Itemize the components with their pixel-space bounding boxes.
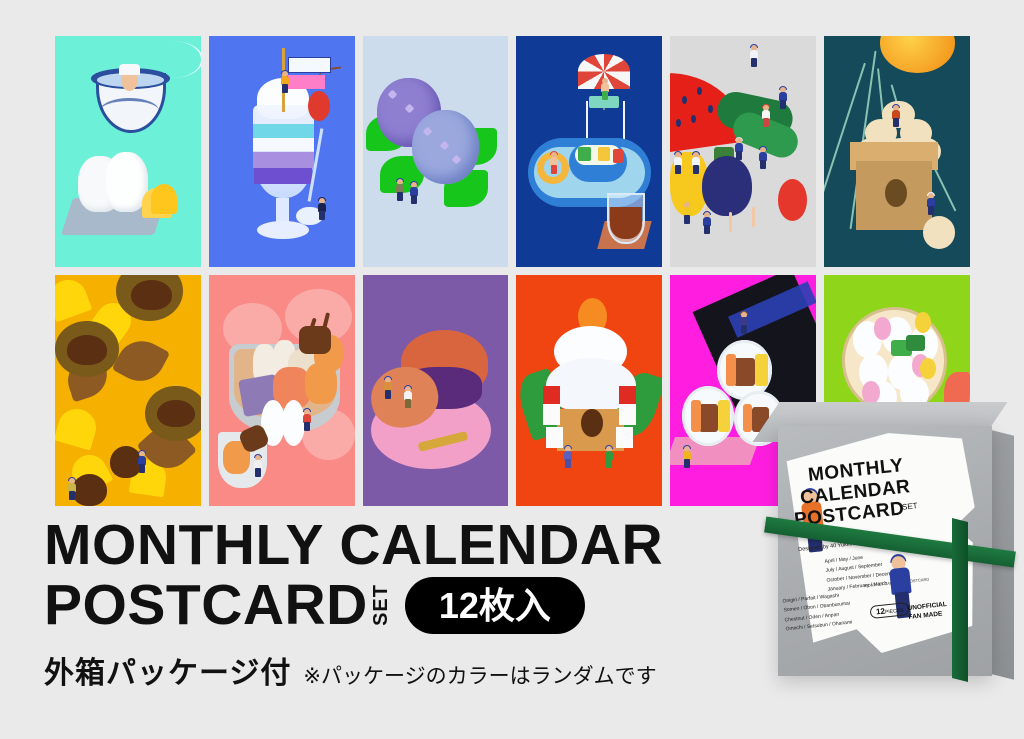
chestnut [131, 280, 172, 310]
chestnut [67, 335, 108, 365]
package-included-label: 外箱パッケージ付 [44, 648, 291, 692]
roll-filling [726, 354, 736, 386]
title-row-secondary: POSTCARD SET 12枚入 [44, 576, 744, 634]
table-leg [729, 212, 732, 232]
flag-banner-2 [288, 75, 326, 89]
figure-top [749, 45, 759, 67]
seed [691, 115, 696, 123]
stand-hole [581, 409, 603, 437]
table-leg [752, 207, 755, 227]
figure-corn-left [673, 152, 683, 174]
figure-floating [549, 152, 559, 174]
rolling-chestnut [72, 474, 107, 506]
figure-beside-stand [926, 193, 936, 215]
red-stripe [619, 386, 637, 404]
seed [682, 96, 687, 104]
figure-in-bowl [253, 455, 263, 477]
figure-on-roll [739, 312, 749, 334]
figure-sitting-eggplant [734, 138, 744, 160]
cherry [308, 91, 330, 121]
postcard-card-4-somen[interactable] [516, 36, 662, 267]
label-items-list: Onigiri / Parfait / Wagashi Somen / Obon… [782, 591, 852, 635]
figure-in-pot [302, 409, 312, 431]
pickle-2 [151, 184, 177, 214]
postcard-card-9-dorayaki[interactable] [363, 275, 509, 506]
seed [697, 87, 702, 95]
parfait-layer-3 [253, 152, 314, 168]
dry-leaf [112, 332, 170, 389]
green-ribbon-vertical [952, 518, 968, 682]
flag-banner-1 [288, 57, 332, 73]
red-stripe [543, 386, 561, 404]
quantity-badge: 12枚入 [405, 577, 585, 634]
shide-paper [619, 404, 637, 425]
full-moon [880, 36, 956, 73]
figure-standing-1 [778, 87, 788, 109]
figure-seated-1 [383, 377, 393, 399]
parfait-layer-1 [253, 124, 314, 138]
parfait-layer-2 [253, 138, 314, 152]
topping-green [578, 147, 591, 161]
figure-carrier [137, 451, 147, 473]
figure-corn-right [691, 152, 701, 174]
ginkgo-leaf [55, 404, 100, 450]
figure-on-dango [891, 105, 901, 127]
postcard-card-7-chestnut[interactable] [55, 275, 201, 506]
figure-climber [280, 71, 290, 93]
figure-sitting-1 [395, 179, 405, 201]
postcard-card-10-kagami-mochi[interactable] [516, 275, 662, 506]
figure-at-counter [682, 446, 692, 468]
set-label: SET [370, 584, 393, 626]
postcard-card-5-summer-vegetables[interactable] [670, 36, 816, 267]
chestnut [157, 400, 195, 428]
figure-ground-2 [702, 212, 712, 234]
figure-kneeling-right [604, 446, 614, 468]
product-title-line1: MONTHLY CALENDAR [44, 516, 744, 574]
roll-filling [734, 358, 754, 386]
figure-kneeling-left [563, 446, 573, 468]
yellow-flower [915, 312, 931, 333]
sakura-garnish [874, 317, 891, 340]
label-count-unit: PIECES [885, 608, 904, 616]
figure-pusher [67, 478, 77, 500]
postcard-card-6-tsukimi[interactable] [824, 36, 970, 267]
postcard-card-3-hydrangea[interactable] [363, 36, 509, 267]
parfait-layer-4 [254, 168, 312, 184]
figure-sitting-2 [409, 182, 419, 204]
roll-filling [699, 404, 718, 432]
shide-paper [546, 427, 564, 448]
roll-filling [691, 400, 701, 432]
package-color-note: ※パッケージのカラーはランダムです [303, 660, 656, 690]
ginkgo-leaf [55, 275, 92, 322]
package-box-photo: MONTHLY CALENDAR POSTCARD SET Designed b… [756, 398, 1024, 698]
postcard-card-2-parfait[interactable] [209, 36, 355, 267]
subtitle-row: 外箱パッケージ付 ※パッケージのカラーはランダムです [44, 648, 744, 692]
figure-seated-2 [403, 386, 413, 408]
tomato [778, 179, 807, 221]
figure-ground-1 [682, 202, 692, 224]
postcard-card-1-onigiri[interactable] [55, 36, 201, 267]
label-count-number: 12 [876, 607, 886, 617]
roll-filling [718, 400, 730, 432]
green-leaf [906, 335, 925, 351]
roll-filling [743, 404, 752, 432]
label-set-word: SET [902, 501, 918, 512]
shide-paper [616, 427, 634, 448]
beef-skewer [299, 326, 331, 354]
shide-paper [543, 404, 561, 425]
product-title-line2: POSTCARD [44, 576, 368, 634]
figure-sitting-pot [758, 147, 768, 169]
roll-filling [755, 354, 768, 386]
figure-standing-2 [761, 105, 771, 127]
postcard-card-8-oden[interactable] [209, 275, 355, 506]
topping-egg [598, 147, 610, 161]
eggplant [702, 156, 752, 216]
bather-towel [119, 64, 139, 76]
title-block: MONTHLY CALENDAR POSTCARD SET 12枚入 外箱パッケ… [44, 516, 744, 692]
figure-walker [317, 198, 327, 220]
topping-tomato [613, 149, 623, 163]
susuki-grass [824, 36, 865, 115]
fallen-dango [923, 216, 955, 248]
tsuyu-sauce [610, 207, 642, 239]
figure-lifeguard [600, 78, 610, 100]
